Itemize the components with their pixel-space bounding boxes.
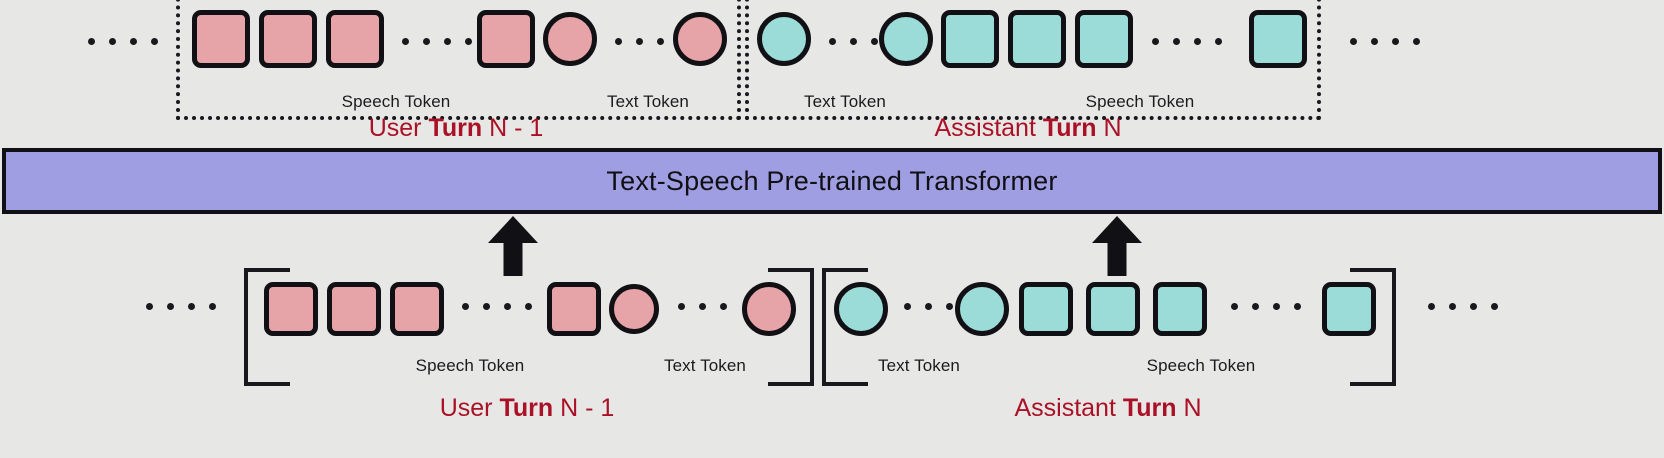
bottom-token-text-teal-1 bbox=[834, 282, 888, 336]
bottom-token-text-pink-1 bbox=[609, 284, 659, 334]
ellipsis-bottom-text-user bbox=[678, 303, 727, 310]
bottom-turn-user-suffix: N - 1 bbox=[553, 394, 614, 422]
top-turn-label-assistant: Assistant Turn N bbox=[934, 114, 1121, 143]
top-caption-speech-token-user: Speech Token bbox=[342, 92, 451, 112]
bottom-token-speech-teal-2 bbox=[1086, 282, 1140, 336]
bottom-turn-user-prefix: User bbox=[440, 394, 500, 422]
bottom-token-speech-1 bbox=[264, 282, 318, 336]
top-token-speech-teal-4 bbox=[1249, 10, 1307, 68]
top-turn-assistant-bold: Turn bbox=[1043, 114, 1097, 142]
bottom-caption-text-token-user: Text Token bbox=[664, 356, 746, 376]
top-token-text-pink-2 bbox=[673, 12, 727, 66]
top-token-speech-teal-3 bbox=[1075, 10, 1133, 68]
bottom-token-text-pink-2 bbox=[742, 282, 796, 336]
top-token-text-pink-1 bbox=[543, 12, 597, 66]
bottom-token-speech-3 bbox=[390, 282, 444, 336]
top-token-speech-1 bbox=[192, 10, 250, 68]
bottom-turn-user-bold: Turn bbox=[499, 394, 553, 422]
bottom-turn-label-assistant: Assistant Turn N bbox=[1014, 394, 1201, 423]
arrow-user-turn-input bbox=[488, 216, 538, 276]
ellipsis-bottom-text-assistant bbox=[904, 303, 953, 310]
top-token-speech-teal-2 bbox=[1008, 10, 1066, 68]
top-token-text-teal-2 bbox=[879, 12, 933, 66]
ellipsis-right-top bbox=[1350, 38, 1420, 45]
bottom-token-speech-teal-1 bbox=[1019, 282, 1073, 336]
ellipsis-bottom-speech-user bbox=[462, 303, 532, 310]
top-token-speech-teal-1 bbox=[941, 10, 999, 68]
top-turn-user-suffix: N - 1 bbox=[482, 114, 543, 142]
ellipsis-top-speech-assistant bbox=[1152, 38, 1222, 45]
top-turn-user-bold: Turn bbox=[428, 114, 482, 142]
ellipsis-top-text-user bbox=[615, 38, 664, 45]
ellipsis-bottom-speech-assistant bbox=[1231, 303, 1301, 310]
bottom-turn-assistant-prefix: Assistant bbox=[1014, 394, 1122, 422]
bottom-token-speech-2 bbox=[327, 282, 381, 336]
top-token-speech-4 bbox=[477, 10, 535, 68]
top-turn-assistant-prefix: Assistant bbox=[934, 114, 1042, 142]
top-caption-speech-token-assistant: Speech Token bbox=[1086, 92, 1195, 112]
bottom-caption-text-token-assistant: Text Token bbox=[878, 356, 960, 376]
ellipsis-top-text-assistant bbox=[829, 38, 878, 45]
top-token-speech-2 bbox=[259, 10, 317, 68]
bottom-turn-assistant-bold: Turn bbox=[1123, 394, 1177, 422]
bottom-turn-assistant-suffix: N bbox=[1177, 394, 1202, 422]
top-turn-label-user: User Turn N - 1 bbox=[369, 114, 544, 143]
bottom-caption-speech-token-user: Speech Token bbox=[416, 356, 525, 376]
bottom-token-text-teal-2 bbox=[955, 282, 1009, 336]
top-turn-assistant-suffix: N bbox=[1097, 114, 1122, 142]
top-token-text-teal-1 bbox=[757, 12, 811, 66]
ellipsis-right-bottom bbox=[1428, 303, 1498, 310]
ellipsis-top-speech-user bbox=[402, 38, 472, 45]
transformer-block[interactable]: Text-Speech Pre-trained Transformer bbox=[2, 148, 1662, 214]
bottom-caption-speech-token-assistant: Speech Token bbox=[1147, 356, 1256, 376]
bottom-token-speech-teal-3 bbox=[1153, 282, 1207, 336]
top-caption-text-token-user: Text Token bbox=[607, 92, 689, 112]
transformer-label: Text-Speech Pre-trained Transformer bbox=[606, 166, 1057, 197]
arrow-assistant-turn-input bbox=[1092, 216, 1142, 276]
bottom-token-speech-4 bbox=[547, 282, 601, 336]
bottom-token-speech-teal-4 bbox=[1322, 282, 1376, 336]
figure-canvas: Speech Token Text Token Text Token Speec… bbox=[0, 0, 1664, 458]
ellipsis-left-top bbox=[88, 38, 158, 45]
top-caption-text-token-assistant: Text Token bbox=[804, 92, 886, 112]
top-turn-user-prefix: User bbox=[369, 114, 429, 142]
top-token-speech-3 bbox=[326, 10, 384, 68]
ellipsis-left-bottom bbox=[146, 303, 216, 310]
bottom-turn-label-user: User Turn N - 1 bbox=[440, 394, 615, 423]
